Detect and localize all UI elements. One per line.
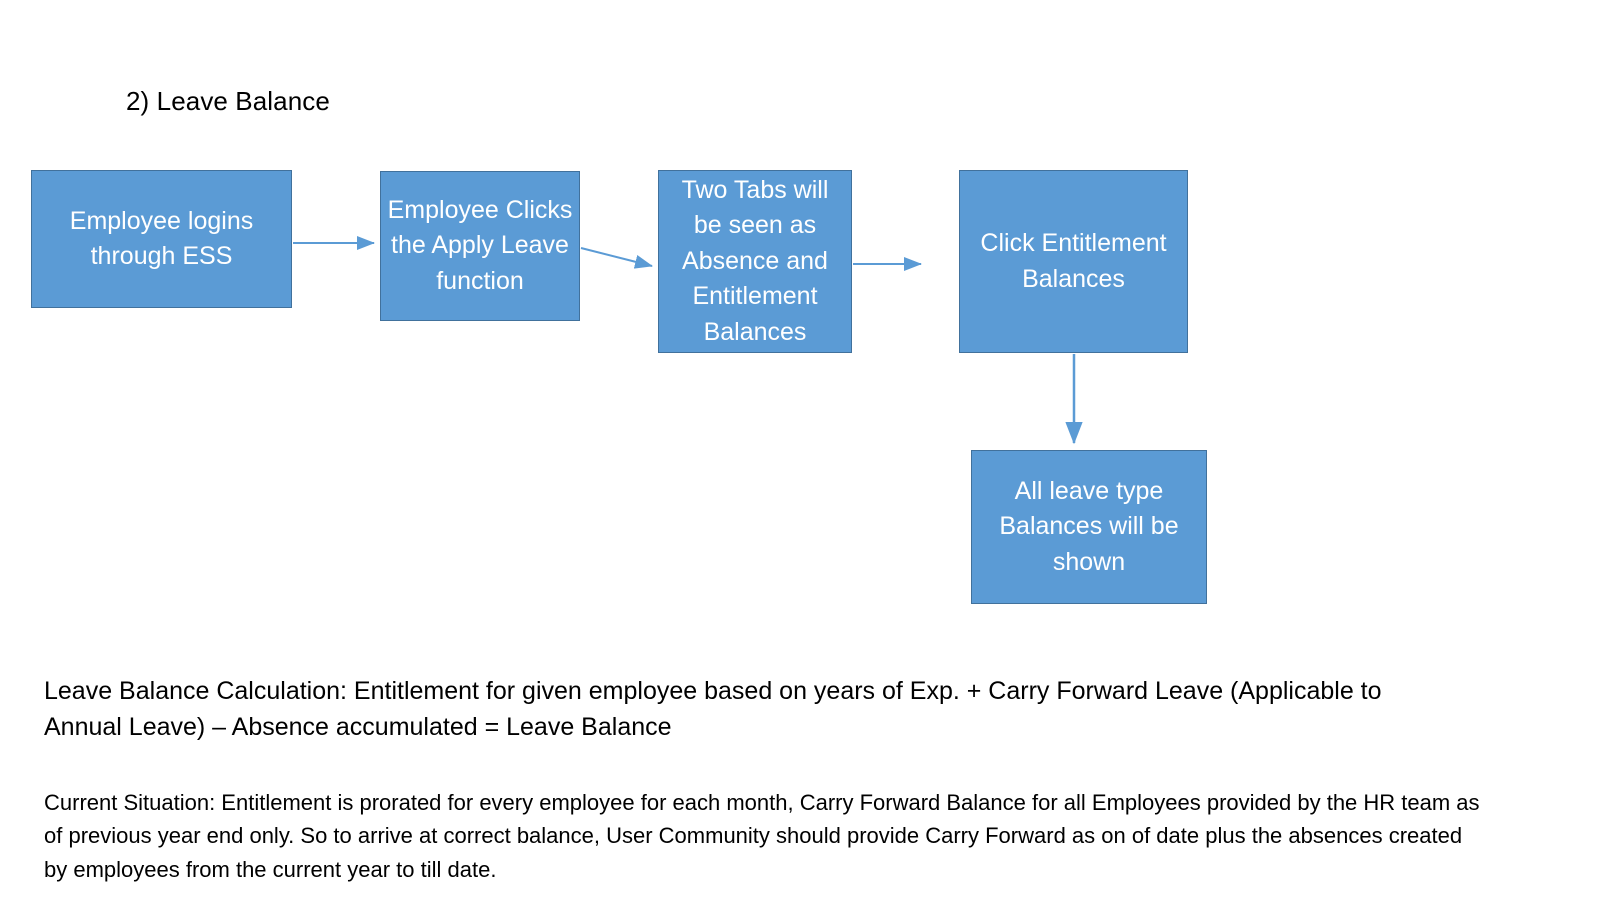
flow-connectors (0, 0, 1600, 900)
flow-box-employee-logins-through-ess[interactable]: Employee logins through ESS (31, 170, 292, 308)
flow-box-label: Click Entitlement Balances (966, 226, 1181, 297)
page-title: 2) Leave Balance (126, 86, 330, 117)
flow-box-label: All leave type Balances will be shown (978, 474, 1200, 581)
flow-box-label: Employee logins through ESS (38, 204, 285, 275)
flow-box-label: Employee Clicks the Apply Leave function (387, 193, 573, 300)
flow-box-click-entitlement-balances[interactable]: Click Entitlement Balances (959, 170, 1188, 353)
slide-canvas: 2) Leave Balance Employee login (0, 0, 1600, 900)
flow-box-label: Two Tabs will be seen as Absence and Ent… (665, 173, 845, 351)
arrow-apply-leave-to-two-tabs (581, 248, 652, 266)
flow-box-all-leave-type-balances-shown[interactable]: All leave type Balances will be shown (971, 450, 1207, 604)
flow-box-two-tabs-absence-entitlement[interactable]: Two Tabs will be seen as Absence and Ent… (658, 170, 852, 353)
flow-box-employee-clicks-apply-leave[interactable]: Employee Clicks the Apply Leave function (380, 171, 580, 321)
note-current-situation: Current Situation: Entitlement is prorat… (44, 786, 1491, 886)
note-leave-balance-calculation: Leave Balance Calculation: Entitlement f… (44, 674, 1459, 745)
